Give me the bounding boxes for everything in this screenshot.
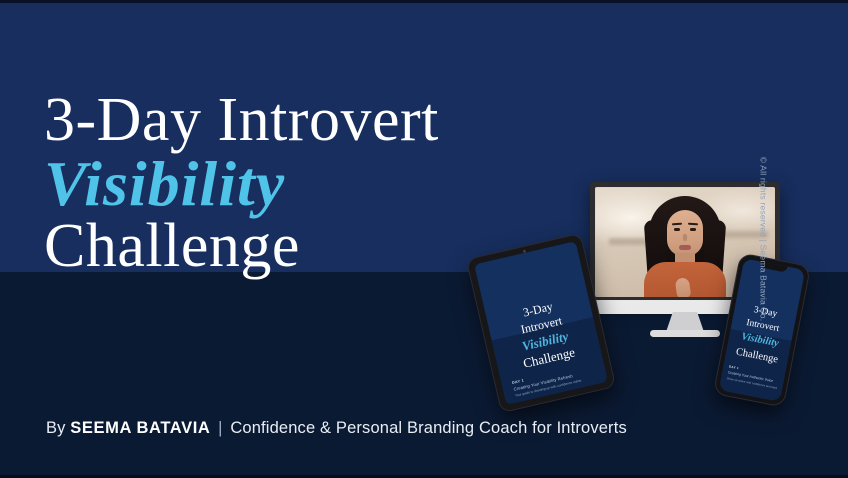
presenter-eye-right [690, 228, 696, 231]
page-title: 3-Day Introvert Visibility Challenge [44, 92, 439, 275]
byline-role: Confidence & Personal Branding Coach for… [230, 419, 627, 437]
video-presenter [642, 196, 728, 297]
promo-banner: 3-Day Introvert Visibility Challenge By … [0, 0, 848, 478]
presenter-nose [683, 234, 687, 241]
presenter-mouth [679, 245, 691, 250]
top-edge-border [0, 0, 848, 3]
headline-line-2-accent: Visibility [44, 155, 439, 214]
headline-line-1: 3-Day Introvert [44, 92, 439, 149]
tablet-screen: 3-Day Introvert Visibility Challenge DAY… [474, 241, 608, 405]
device-mockup-cluster: 3-Day Introvert Visibility Challenge DAY… [468, 168, 848, 418]
copyright-notice: © All rights reserved | Seema Batavia Co… [759, 157, 769, 322]
tablet-cover: 3-Day Introvert Visibility Challenge DAY… [474, 241, 608, 405]
byline-prefix: By [46, 419, 66, 437]
byline-separator: | [215, 419, 225, 437]
presenter-eye-left [674, 228, 680, 231]
byline-author-name: SEEMA BATAVIA [70, 419, 210, 437]
headline-line-3: Challenge [44, 218, 439, 275]
byline: By SEEMA BATAVIA | Confidence & Personal… [46, 419, 627, 438]
monitor-stand-neck [666, 312, 704, 332]
monitor-stand-base [650, 330, 720, 337]
presenter-eyebrow-left [672, 222, 682, 225]
presenter-eyebrow-right [688, 222, 698, 225]
